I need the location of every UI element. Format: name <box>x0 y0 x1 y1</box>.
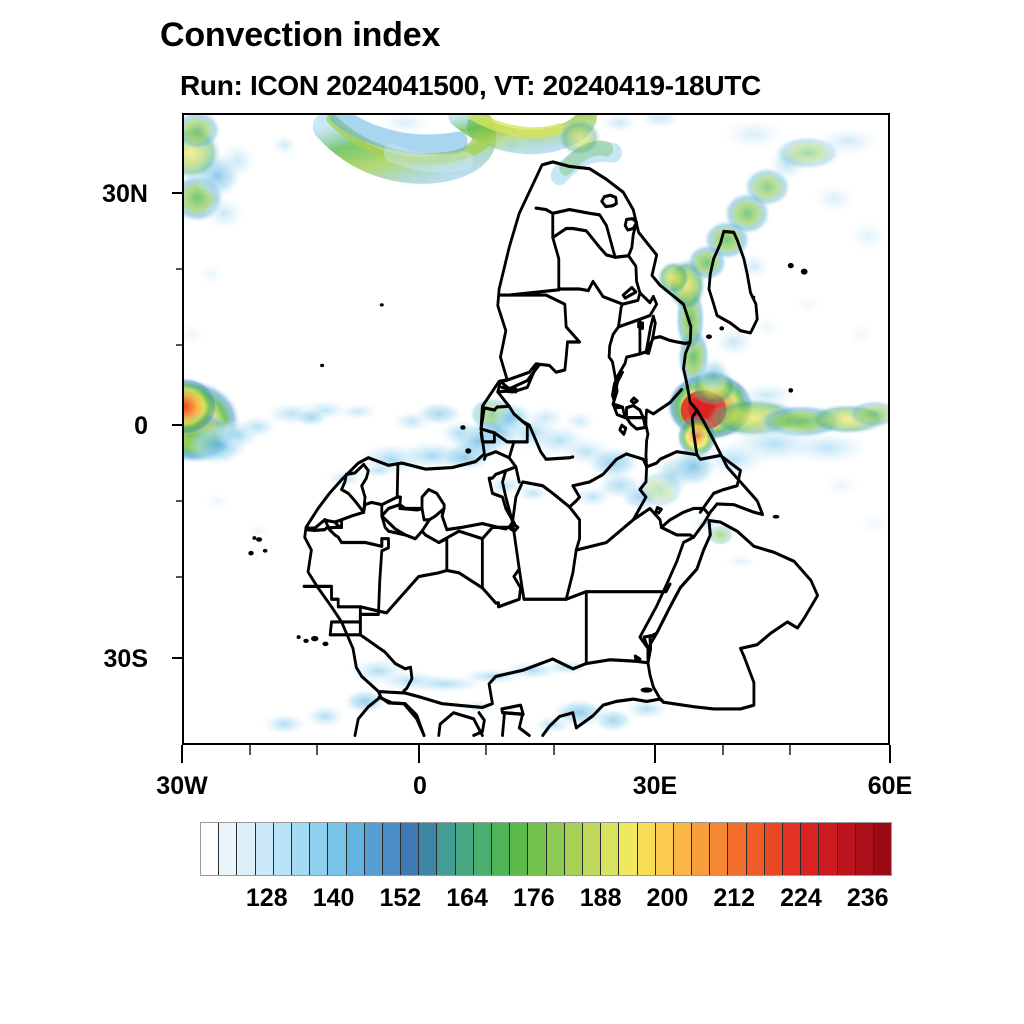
y-axis-label-30s: 30S <box>60 645 148 674</box>
x-axis-label-30e: 30E <box>605 772 705 801</box>
x-axis-label-0: 0 <box>370 772 470 801</box>
mozambique-channel-band <box>657 148 807 395</box>
border-sudan-ethiopia-north <box>576 508 661 550</box>
border-namibia-botswana <box>536 208 559 290</box>
colorbar-cell <box>783 823 801 875</box>
border-libya-egypt-sudan <box>519 569 586 664</box>
colorbar-cell <box>547 823 565 875</box>
border-mz-malawi <box>640 293 653 303</box>
colorbar-cell <box>728 823 746 875</box>
colorbar-cell <box>801 823 819 875</box>
colorbar-cell <box>747 823 765 875</box>
colorbar-cell <box>856 823 874 875</box>
colorbar-cell <box>310 823 328 875</box>
colorbar-cell <box>510 823 528 875</box>
lake-kariba <box>623 288 636 299</box>
colorbar-cell <box>710 823 728 875</box>
colorbar-cell <box>819 823 837 875</box>
colorbar-tick-label: 224 <box>780 884 822 913</box>
colorbar-cell <box>383 823 401 875</box>
page-title: Convection index <box>160 16 440 55</box>
border-zimbabwe-west <box>588 281 623 304</box>
colorbar-tick-label: 200 <box>647 884 689 913</box>
atlantic-itcz-cluster <box>184 378 378 466</box>
colorbar-tick-label: 140 <box>313 884 355 913</box>
border-angola-drc <box>500 295 579 381</box>
y-axis-ticks <box>158 111 188 751</box>
colorbar-cell <box>874 823 891 875</box>
lake-malawi <box>646 316 655 353</box>
colorbar-cell <box>274 823 292 875</box>
colorbar-tick-label: 152 <box>379 884 421 913</box>
colorbar-tick-label: 188 <box>580 884 622 913</box>
border-egypt-sudan <box>586 584 670 592</box>
colorbar-tick-label: 128 <box>246 884 288 913</box>
colorbar-cell <box>692 823 710 875</box>
border-botswana-southafrica <box>553 228 629 257</box>
colorbar-tick-label: 164 <box>446 884 488 913</box>
border-mauritania-mali <box>325 520 389 635</box>
border-guinea-north <box>325 512 364 522</box>
colorbar-tick-label: 236 <box>847 884 889 913</box>
colorbar-cell <box>437 823 455 875</box>
x-axis-ticks <box>180 745 894 775</box>
convection-index-figure: Convection index Run: ICON 2024041500, V… <box>0 0 1024 1024</box>
colorbar-cell <box>328 823 346 875</box>
colorbar-cell <box>401 823 419 875</box>
border-eritrea <box>661 527 693 537</box>
border-algeria-mali <box>360 570 446 612</box>
x-axis-label-60e: 60E <box>840 772 940 801</box>
colorbar-cell <box>492 823 510 875</box>
y-axis-label-0: 0 <box>60 412 148 441</box>
border-ghana-ivory-s <box>397 464 398 497</box>
border-senegal-mali <box>338 537 341 542</box>
border-mali-niger <box>422 531 447 570</box>
colorbar-cell <box>674 823 692 875</box>
y-axis-label-30n: 30N <box>60 180 148 209</box>
x-axis-label-30w: 30W <box>132 772 232 801</box>
lake-tana <box>656 508 661 513</box>
colorbar-cell <box>365 823 383 875</box>
colorbar-cell <box>765 823 783 875</box>
colorbar-tick-label: 212 <box>713 884 755 913</box>
border-western-sahara <box>304 586 360 634</box>
border-sa-botswana2 <box>553 210 615 258</box>
border-burkina-ghana <box>382 505 400 516</box>
border-zambia-drc-malawi <box>609 319 640 380</box>
colorbar-cell <box>838 823 856 875</box>
arabia-coastline <box>648 521 818 709</box>
map-plot-area[interactable] <box>182 113 890 745</box>
colorbar-cell <box>292 823 310 875</box>
colorbar-cell <box>528 823 546 875</box>
colorbar-cell <box>619 823 637 875</box>
border-gambia-n <box>307 530 325 531</box>
colorbar-cell <box>219 823 237 875</box>
nile-delta <box>635 656 640 661</box>
colorbar-cell <box>419 823 437 875</box>
congo-basin-convection <box>358 397 640 479</box>
border-kenya-uganda <box>646 418 648 467</box>
border-chad-sudan <box>566 507 579 599</box>
colorbar-cell <box>474 823 492 875</box>
run-validtime-subtitle: Run: ICON 2024041500, VT: 20240419-18UTC <box>180 70 761 102</box>
colorbar[interactable] <box>200 822 892 876</box>
colorbar-cell <box>237 823 255 875</box>
colorbar-cell <box>347 823 365 875</box>
colorbar-cell <box>201 823 219 875</box>
colorbar-cell <box>638 823 656 875</box>
colorbar-cell <box>656 823 674 875</box>
map-canvas <box>184 115 888 743</box>
colorbar-cell <box>565 823 583 875</box>
colorbar-cell <box>601 823 619 875</box>
lake-edward-albert <box>620 425 626 434</box>
colorbar-cell <box>456 823 474 875</box>
colorbar-cell <box>583 823 601 875</box>
colorbar-cell <box>256 823 274 875</box>
border-namibia-angola-caprivi <box>559 289 589 291</box>
red-sea-east <box>648 521 710 649</box>
border-ghana-ivory <box>382 497 397 505</box>
colorbar-tick-label: 176 <box>513 884 555 913</box>
border-niger-mali-chad <box>482 522 512 588</box>
sicily <box>502 705 523 714</box>
lake-eyasi <box>631 398 637 403</box>
southwest-atlantic-front <box>184 115 258 230</box>
border-lesotho <box>602 195 617 206</box>
